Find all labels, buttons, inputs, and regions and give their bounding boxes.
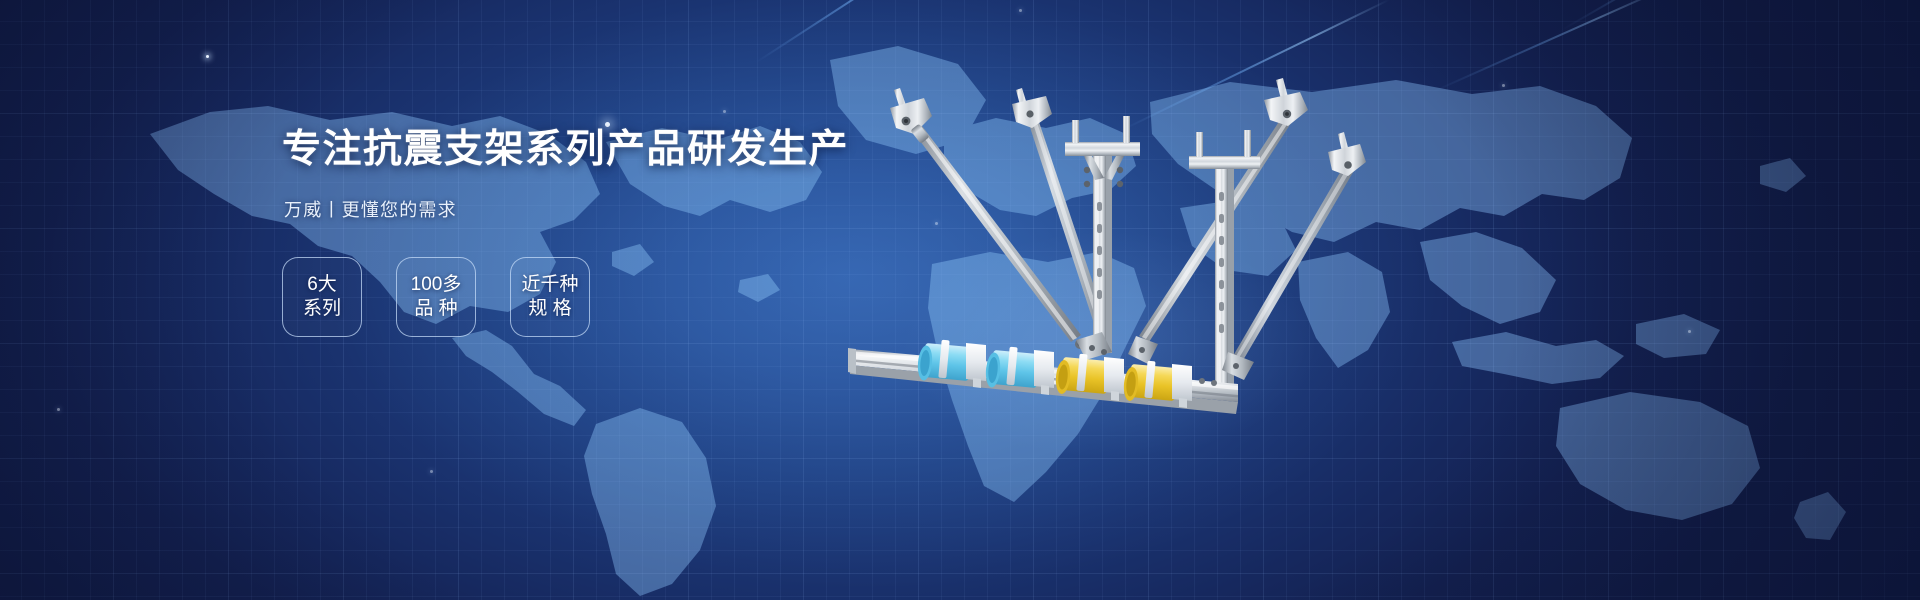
sparkle-icon [430, 470, 433, 473]
sparkle-icon [1019, 9, 1022, 12]
brace-arm-left [890, 88, 1085, 349]
badge-group: 6大 系列 100多 品 种 近千种 规 格 [282, 257, 802, 337]
sparkle-icon [1688, 330, 1691, 333]
page-title: 专注抗震支架系列产品研发生产 [282, 130, 802, 169]
streak-icon [1560, 0, 1743, 31]
sparkle-icon [57, 408, 60, 411]
banner-stage: 专注抗震支架系列产品研发生产 万威丨更懂您的需求 6大 系列 100多 品 种 … [0, 0, 1920, 600]
badge-line1: 近千种 [521, 275, 578, 295]
banner-copy: 专注抗震支架系列产品研发生产 万威丨更懂您的需求 6大 系列 100多 品 种 … [282, 130, 802, 337]
badge-line2: 品 种 [414, 299, 457, 319]
badge-line1: 100多 [411, 275, 462, 295]
badge-line2: 规 格 [528, 299, 571, 319]
streak-icon [1430, 0, 1668, 94]
sparkle-icon [723, 110, 726, 113]
badge-specifications[interactable]: 近千种 规 格 [510, 257, 590, 337]
page-subtitle: 万威丨更懂您的需求 [284, 201, 802, 219]
sparkle-icon [206, 55, 209, 58]
product-image-seismic-bracket [840, 52, 1360, 412]
badge-line2: 系列 [303, 299, 341, 319]
badge-series[interactable]: 6大 系列 [282, 257, 362, 337]
badge-line1: 6大 [307, 275, 337, 295]
sparkle-icon [605, 122, 610, 127]
badge-varieties[interactable]: 100多 品 种 [396, 257, 476, 337]
sparkle-icon [1502, 84, 1505, 87]
